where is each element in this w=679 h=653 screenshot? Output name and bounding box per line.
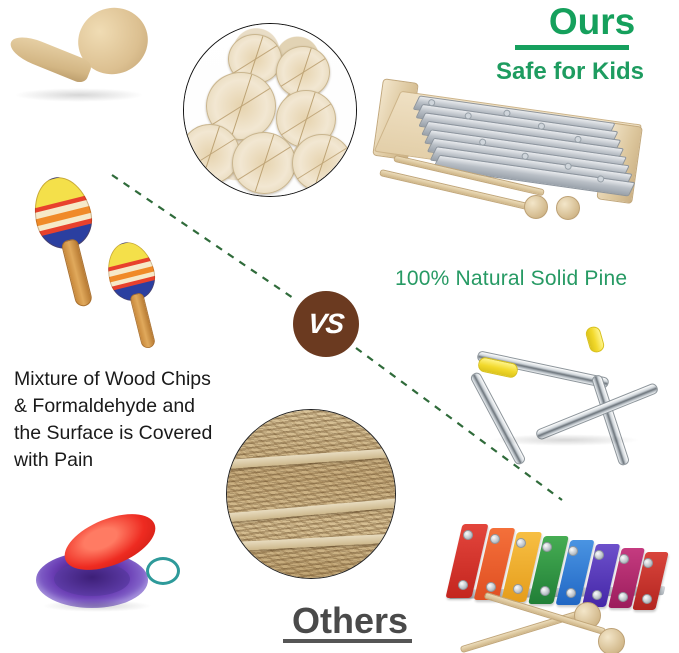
ours-underline xyxy=(515,45,629,50)
glockenspiel-mallet-head xyxy=(556,196,580,220)
others-underline xyxy=(283,639,412,643)
vs-badge-label: VS xyxy=(307,308,346,340)
castanet-ring-clip xyxy=(146,557,180,585)
triangle-left-side xyxy=(469,371,527,466)
triangle-right-side xyxy=(591,374,631,467)
triangle-beater-grip xyxy=(584,325,606,354)
glockenspiel-mallet-head xyxy=(524,195,548,219)
others-description-line: & Formaldehyde and xyxy=(14,393,249,420)
others-headline: Others xyxy=(280,600,420,642)
ours-claim: 100% Natural Solid Pine xyxy=(395,266,670,292)
triangle-instrument xyxy=(470,334,660,452)
xylophone-mallet-head xyxy=(598,628,625,653)
plastic-castanet xyxy=(0,0,260,653)
comparison-infographic: VS Ours Safe for Kids 100% Natural Solid… xyxy=(0,0,679,653)
triangle-shadow xyxy=(490,434,640,446)
others-description-line: with Pain xyxy=(14,447,249,474)
ours-headline: Ours xyxy=(512,0,672,44)
others-description: Mixture of Wood Chips & Formaldehyde and… xyxy=(14,366,249,474)
ours-subheadline: Safe for Kids xyxy=(496,57,671,87)
vs-badge: VS xyxy=(293,291,359,357)
castanet-shadow xyxy=(42,600,152,612)
others-description-line: the Surface is Covered xyxy=(14,420,249,447)
others-description-line: Mixture of Wood Chips xyxy=(14,366,249,393)
color-xylophone xyxy=(430,510,670,653)
